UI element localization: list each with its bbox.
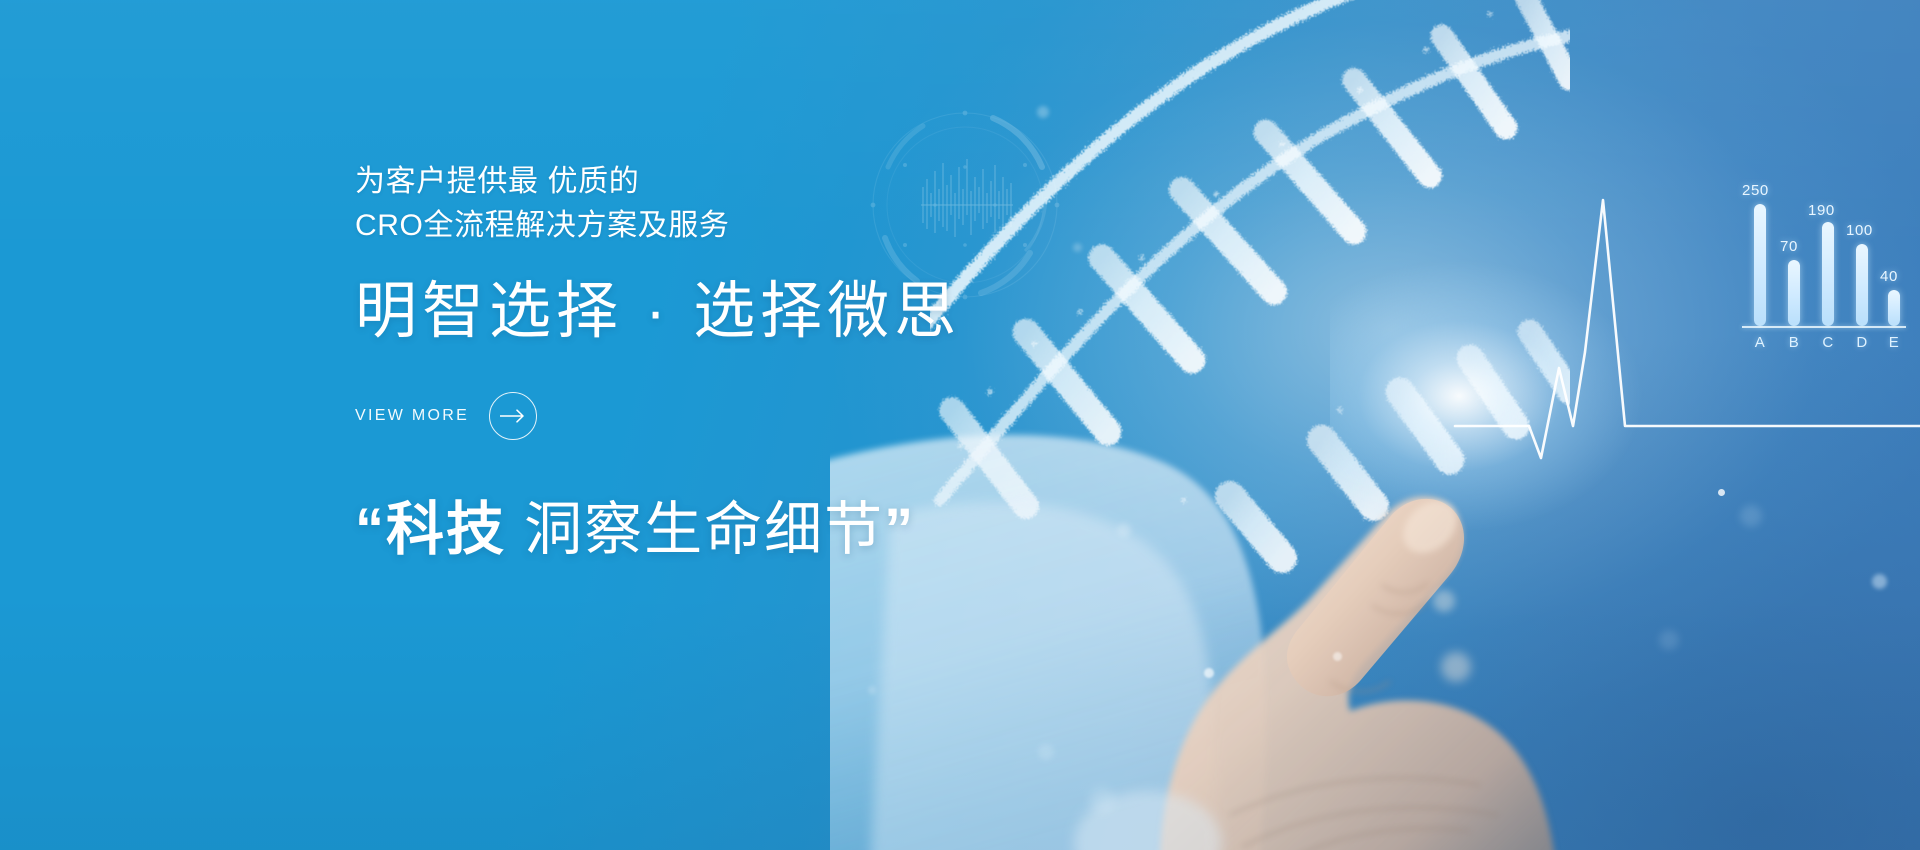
hero-subtitle-line-2: CRO全流程解决方案及服务 <box>355 204 1175 248</box>
chart-category-b: B <box>1784 334 1804 351</box>
arrow-right-icon[interactable] <box>489 392 537 440</box>
chart-value-e: 40 <box>1880 268 1898 285</box>
chart-bar-e <box>1888 290 1900 326</box>
chart-category-c: C <box>1818 334 1838 351</box>
quote-close-mark: ” <box>884 497 915 562</box>
statistics-bar-chart: 250 70 190 100 40 A B C D E <box>1742 186 1920 366</box>
chart-category-d: D <box>1852 334 1872 351</box>
chart-category-a: A <box>1750 334 1770 351</box>
chart-bar-a <box>1754 204 1766 326</box>
quote-open-mark: “ <box>355 497 386 562</box>
chart-bar-c <box>1822 222 1834 326</box>
hero-quote: “科技 洞察生命细节” <box>355 498 1175 562</box>
hero-headline: 明智选择 · 选择微思 <box>355 277 1175 346</box>
hero-banner: 250 70 190 100 40 A B C D E 为客户提供最 优质的 C… <box>0 0 1920 850</box>
view-more-label: VIEW MORE <box>355 407 469 425</box>
hero-subtitle-line-1: 为客户提供最 优质的 <box>355 160 1175 204</box>
view-more-button[interactable]: VIEW MORE <box>355 392 537 440</box>
hero-subtitle: 为客户提供最 优质的 CRO全流程解决方案及服务 <box>355 160 1175 249</box>
chart-value-d: 100 <box>1846 222 1873 239</box>
chart-value-c: 190 <box>1808 202 1835 219</box>
chart-bar-d <box>1856 244 1868 326</box>
chart-plot-area: 250 70 190 100 40 A B C D E <box>1742 186 1902 326</box>
chart-bar-b <box>1788 260 1800 326</box>
chart-axis-line <box>1742 326 1906 328</box>
hero-content: 为客户提供最 优质的 CRO全流程解决方案及服务 明智选择 · 选择微思 VIE… <box>355 160 1175 562</box>
quote-light-text: 洞察生命细节 <box>506 497 884 562</box>
chart-value-b: 70 <box>1780 238 1798 255</box>
chart-category-e: E <box>1884 334 1904 351</box>
quote-strong-text: 科技 <box>386 497 506 562</box>
chart-value-a: 250 <box>1742 182 1769 199</box>
